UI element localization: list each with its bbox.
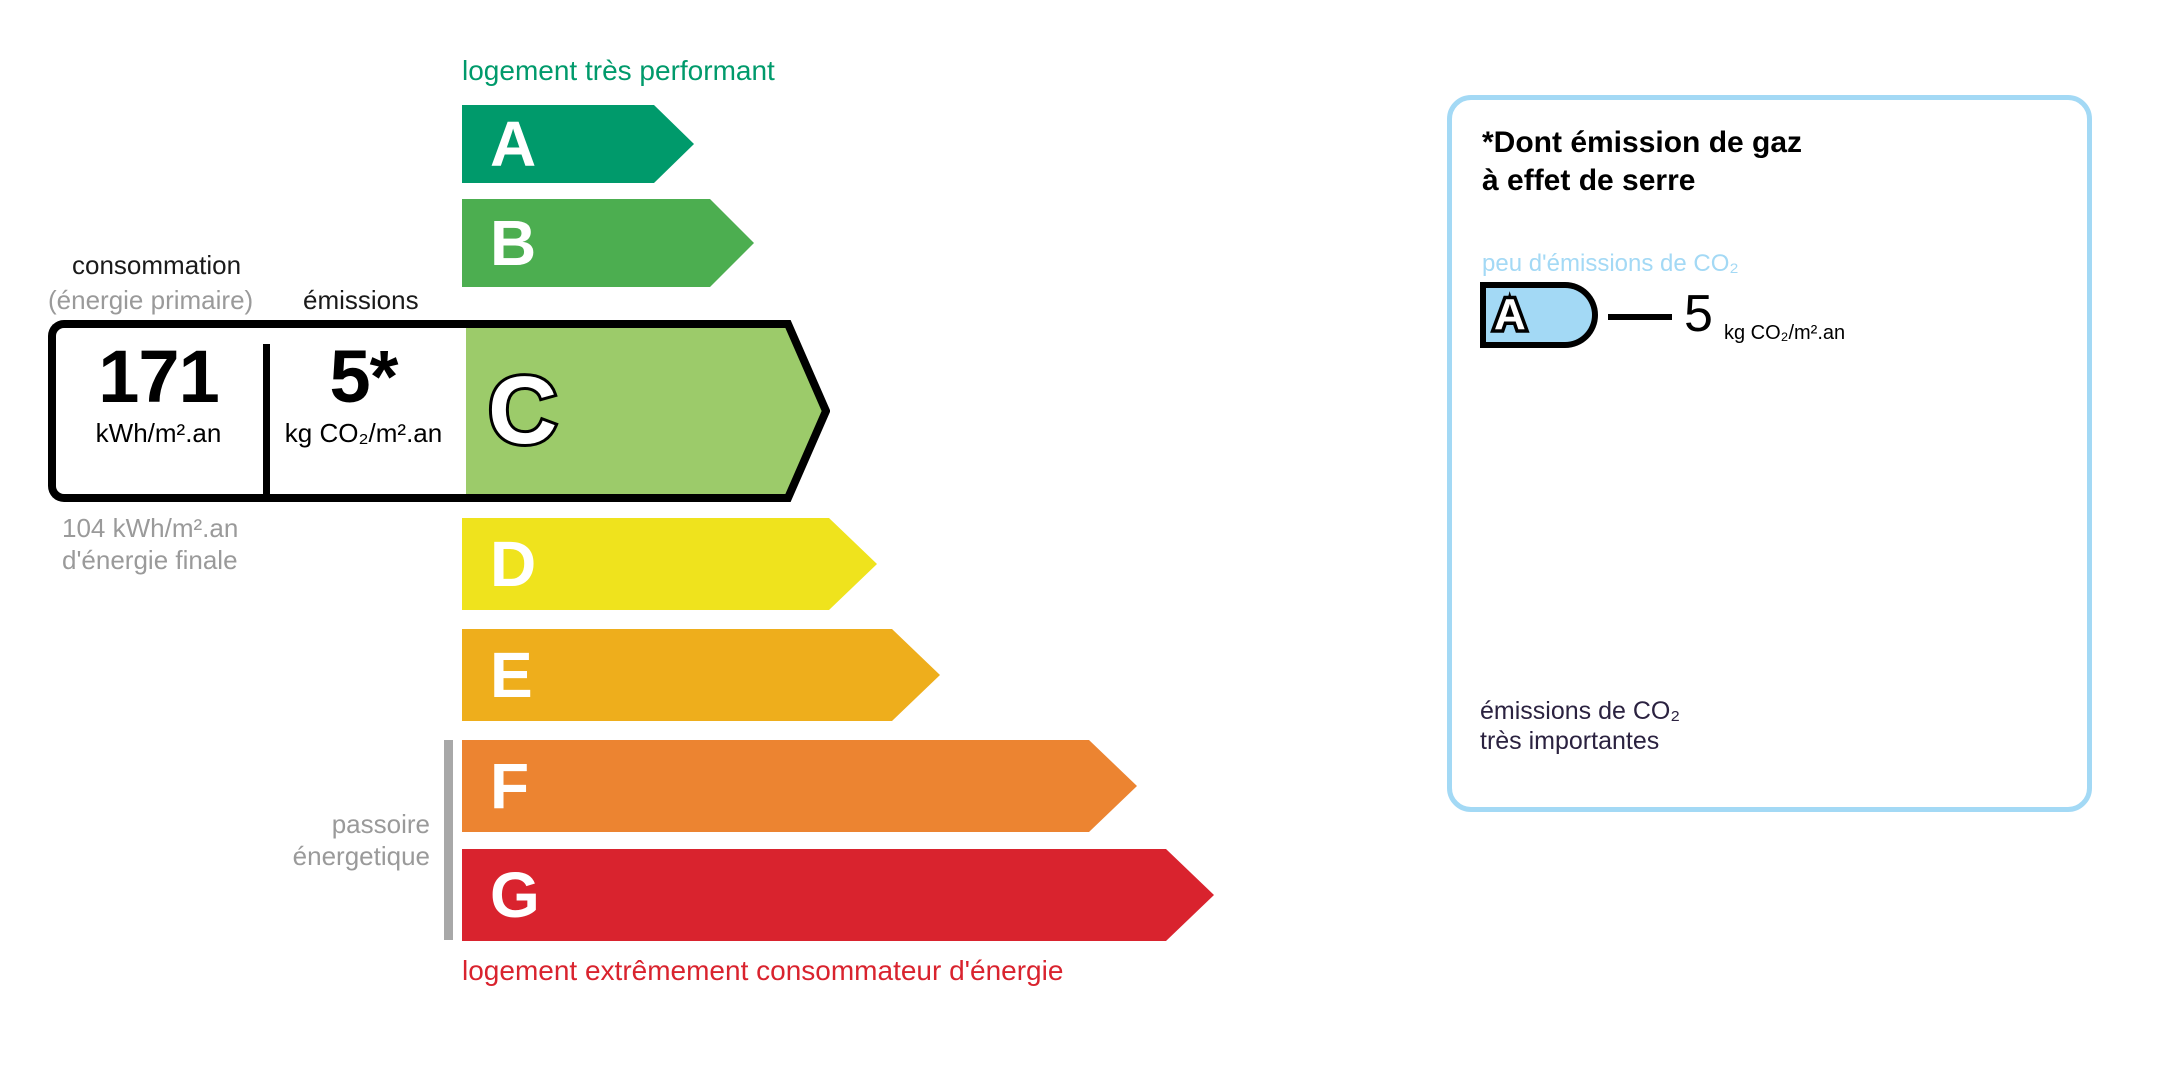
energy-scale-block: logement très performant consommation (é…	[0, 0, 1300, 1079]
consumption-unit: kWh/m².an	[56, 418, 261, 448]
emissions-header: émissions	[303, 285, 419, 316]
passoire-line1: passoire	[180, 808, 430, 840]
dpe-label: logement très performant consommation (é…	[0, 0, 2169, 1079]
value-box: 171 kWh/m².an 5* kg CO₂/m².an	[48, 320, 466, 502]
co2-bottom-caption-line1: émissions de CO₂	[1480, 696, 1680, 726]
energy-letter-a: A	[490, 112, 536, 176]
co2-top-caption: peu d'émissions de CO₂	[1482, 250, 1739, 278]
emissions-value: 5*	[261, 334, 466, 420]
energy-letter-d: D	[490, 532, 536, 596]
energy-arrow-e-shape	[462, 629, 940, 721]
co2-value: 5	[1684, 282, 1713, 346]
co2-panel: *Dont émission de gaz à effet de serre p…	[1447, 95, 2092, 812]
final-energy-line2: d'énergie finale	[62, 544, 238, 576]
co2-row-d[interactable]: D	[1480, 451, 1688, 493]
energy-row-a[interactable]: A	[462, 105, 694, 183]
energy-letter-g: G	[490, 863, 540, 927]
co2-panel-title: *Dont émission de gaz à effet de serre	[1482, 124, 1802, 200]
energy-letter-e: E	[490, 643, 533, 707]
energy-row-g[interactable]: G	[462, 849, 1214, 941]
co2-letter-e: E	[1498, 501, 1523, 539]
energy-arrow-f-shape	[462, 740, 1137, 832]
consumption-value: 171	[56, 334, 261, 420]
co2-badge-a-edge	[1480, 282, 1486, 348]
energy-letter-c: C	[488, 363, 557, 459]
energy-row-d[interactable]: D	[462, 518, 877, 610]
co2-row-c[interactable]: C	[1480, 403, 1658, 445]
co2-row-f[interactable]: F	[1480, 547, 1748, 589]
co2-letter-f: F	[1498, 549, 1521, 587]
co2-unit: kg CO₂/m².an	[1724, 322, 1845, 345]
energy-letter-b: B	[490, 211, 536, 275]
co2-row-b[interactable]: B	[1480, 355, 1628, 397]
final-energy-line1: 104 kWh/m².an	[62, 512, 238, 544]
co2-row-a[interactable]: A	[1480, 282, 1598, 348]
consumption-header-line2: (énergie primaire)	[48, 285, 253, 316]
passoire-label: passoire énergetique	[180, 808, 430, 872]
co2-letter-b: B	[1498, 357, 1525, 395]
co2-title-line2: à effet de serre	[1482, 162, 1802, 200]
energy-row-f[interactable]: F	[462, 740, 1137, 832]
passoire-line2: énergetique	[180, 840, 430, 872]
passoire-marker-bar	[444, 740, 453, 940]
energy-bottom-caption: logement extrêmement consommateur d'éner…	[462, 955, 1063, 987]
energy-row-c[interactable]: C	[462, 320, 830, 502]
energy-row-b[interactable]: B	[462, 199, 754, 287]
energy-top-caption: logement très performant	[462, 55, 775, 87]
energy-row-e[interactable]: E	[462, 629, 940, 721]
co2-row-g[interactable]: G	[1480, 595, 1778, 637]
consumption-cell: 171 kWh/m².an	[56, 334, 261, 448]
energy-arrow-g-shape	[462, 849, 1214, 941]
co2-letter-c: C	[1498, 405, 1525, 443]
co2-letter-d: D	[1498, 453, 1525, 491]
consumption-header-line1: consommation	[72, 250, 241, 281]
co2-row-e[interactable]: E	[1480, 499, 1718, 541]
co2-letter-a: A	[1494, 293, 1526, 337]
emissions-unit: kg CO₂/m².an	[261, 418, 466, 448]
emissions-cell: 5* kg CO₂/m².an	[261, 334, 466, 448]
co2-bottom-caption-line2: très importantes	[1480, 726, 1680, 756]
co2-leader-line	[1608, 314, 1672, 320]
co2-bottom-caption: émissions de CO₂ très importantes	[1480, 696, 1680, 756]
co2-letter-g: G	[1498, 597, 1528, 635]
final-energy-note: 104 kWh/m².an d'énergie finale	[62, 512, 238, 576]
energy-letter-f: F	[490, 754, 529, 818]
co2-title-line1: *Dont émission de gaz	[1482, 124, 1802, 162]
